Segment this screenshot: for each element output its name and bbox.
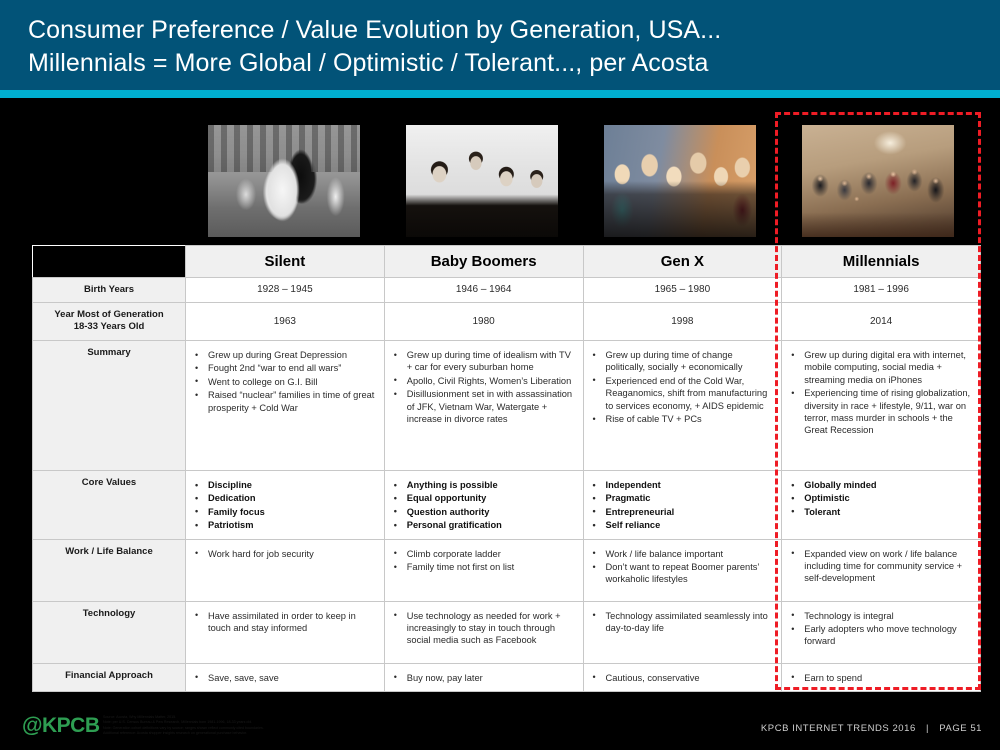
bullet-item: Rise of cable TV + PCs: [592, 413, 774, 425]
bullet-item: Work / life balance important: [592, 548, 774, 560]
bullet-item: Grew up during time of idealism with TV …: [393, 349, 575, 374]
cell-work-life-silent: Work hard for job security: [186, 539, 385, 601]
bullet-item: Have assimilated in order to keep in tou…: [194, 610, 376, 635]
cell-summary-silent: Grew up during Great DepressionFought 2n…: [186, 341, 385, 471]
row-label-line-1: Year Most of Generation: [54, 309, 163, 320]
cell-year-most-millennials: 2014: [782, 303, 981, 341]
cell-core-values-baby-boomers: Anything is possibleEqual opportunityQue…: [384, 471, 583, 540]
row-label-technology: Technology: [33, 601, 186, 663]
cell-summary-gen-x: Grew up during time of change politicall…: [583, 341, 782, 471]
bullet-item: Family focus: [194, 506, 376, 518]
bullet-item: Technology is integral: [790, 610, 972, 622]
cell-work-life-millennials: Expanded view on work / life balance inc…: [782, 539, 981, 601]
table-header-row: Silent Baby Boomers Gen X Millennials: [33, 246, 981, 278]
row-label-birth-years: Birth Years: [33, 278, 186, 303]
generation-comparison-table: Silent Baby Boomers Gen X Millennials Bi…: [32, 245, 981, 692]
photo-cell-gen-x: [581, 122, 779, 240]
cell-work-life-gen-x: Work / life balance importantDon’t want …: [583, 539, 782, 601]
cell-core-values-millennials: Globally mindedOptimisticTolerant: [782, 471, 981, 540]
beatles-photo: [406, 125, 558, 237]
bullet-item: Fought 2nd “war to end all wars”: [194, 362, 376, 374]
bullet-item: Cautious, conservative: [592, 672, 774, 684]
kpcb-logo: @KPCB: [22, 714, 99, 738]
footer-separator: |: [926, 723, 929, 734]
bullet-item: Self reliance: [592, 519, 774, 531]
source-note-line: Additional reference: Acosta shopper ins…: [103, 731, 623, 736]
row-label-core-values: Core Values: [33, 471, 186, 540]
table-row-work-life-balance: Work / Life Balance Work hard for job se…: [33, 539, 981, 601]
bullet-item: Grew up during Great Depression: [194, 349, 376, 361]
cell-technology-millennials: Technology is integralEarly adopters who…: [782, 601, 981, 663]
bullet-item: Tolerant: [790, 506, 972, 518]
footer-report-title: KPCB INTERNET TRENDS 2016: [761, 723, 916, 734]
cell-birth-years-silent: 1928 – 1945: [186, 278, 385, 303]
table-corner-cell: [33, 246, 186, 278]
bullet-item: Climb corporate ladder: [393, 548, 575, 560]
bullet-item: Independent: [592, 479, 774, 491]
column-header-baby-boomers: Baby Boomers: [384, 246, 583, 278]
bullet-item: Apollo, Civil Rights, Women’s Liberation: [393, 375, 575, 387]
bullet-item: Question authority: [393, 506, 575, 518]
cell-year-most-gen-x: 1998: [583, 303, 782, 341]
bullet-item: Expanded view on work / life balance inc…: [790, 548, 972, 585]
cell-work-life-baby-boomers: Climb corporate ladderFamily time not fi…: [384, 539, 583, 601]
bullet-item: Grew up during digital era with internet…: [790, 349, 972, 386]
table-row-birth-years: Birth Years 1928 – 1945 1946 – 1964 1965…: [33, 278, 981, 303]
cell-financial-millennials: Earn to spend: [782, 663, 981, 691]
cell-financial-baby-boomers: Buy now, pay later: [384, 663, 583, 691]
bullet-item: Technology assimilated seamlessly into d…: [592, 610, 774, 635]
row-label-line-2: 18-33 Years Old: [74, 321, 145, 332]
table-row-summary: Summary Grew up during Great DepressionF…: [33, 341, 981, 471]
bullet-item: Experienced end of the Cold War, Reagano…: [592, 375, 774, 412]
bullet-item: Pragmatic: [592, 492, 774, 504]
bullet-item: Optimistic: [790, 492, 972, 504]
bullet-item: Went to college on G.I. Bill: [194, 376, 376, 388]
cell-birth-years-millennials: 1981 – 1996: [782, 278, 981, 303]
bullet-item: Use technology as needed for work + incr…: [393, 610, 575, 647]
cell-birth-years-baby-boomers: 1946 – 1964: [384, 278, 583, 303]
bullet-item: Patriotism: [194, 519, 376, 531]
bullet-item: Personal gratification: [393, 519, 575, 531]
bullet-item: Family time not first on list: [393, 561, 575, 573]
footer-report-info: KPCB INTERNET TRENDS 2016 | PAGE 51: [761, 723, 982, 734]
bullet-item: Anything is possible: [393, 479, 575, 491]
bullet-item: Work hard for job security: [194, 548, 376, 560]
source-note: Source: Acosta, Why Millennials Matter, …: [103, 715, 623, 736]
header-accent-bar: [0, 90, 1000, 98]
table-row-core-values: Core Values DisciplineDedicationFamily f…: [33, 471, 981, 540]
bullet-item: Grew up during time of change politicall…: [592, 349, 774, 374]
cell-financial-silent: Save, save, save: [186, 663, 385, 691]
bullet-item: Save, save, save: [194, 672, 376, 684]
bullet-item: Globally minded: [790, 479, 972, 491]
bullet-item: Entrepreneurial: [592, 506, 774, 518]
generation-photo-strip: [185, 122, 980, 240]
bullet-item: Buy now, pay later: [393, 672, 575, 684]
friends-cast-photo: [604, 125, 756, 237]
photo-cell-baby-boomers: [383, 122, 581, 240]
bullet-item: Disillusionment set in with assassinatio…: [393, 388, 575, 425]
cell-year-most-baby-boomers: 1980: [384, 303, 583, 341]
cell-summary-baby-boomers: Grew up during time of idealism with TV …: [384, 341, 583, 471]
column-header-silent: Silent: [186, 246, 385, 278]
cell-technology-silent: Have assimilated in order to keep in tou…: [186, 601, 385, 663]
bullet-item: Raised “nuclear” families in time of gre…: [194, 389, 376, 414]
cell-core-values-gen-x: IndependentPragmaticEntrepreneurialSelf …: [583, 471, 782, 540]
page-title-line-1: Consumer Preference / Value Evolution by…: [28, 14, 1000, 47]
millennials-group-photo: [802, 125, 954, 237]
table-row-financial-approach: Financial Approach Save, save, save Buy …: [33, 663, 981, 691]
column-header-gen-x: Gen X: [583, 246, 782, 278]
row-label-financial-approach: Financial Approach: [33, 663, 186, 691]
cell-technology-baby-boomers: Use technology as needed for work + incr…: [384, 601, 583, 663]
bullet-item: Don’t want to repeat Boomer parents’ wor…: [592, 561, 774, 586]
photo-cell-millennials: [779, 122, 977, 240]
bullet-item: Experiencing time of rising globalizatio…: [790, 387, 972, 437]
table-row-year-most-18-33: Year Most of Generation 18-33 Years Old …: [33, 303, 981, 341]
row-label-year-most-18-33: Year Most of Generation 18-33 Years Old: [33, 303, 186, 341]
bullet-item: Early adopters who move technology forwa…: [790, 623, 972, 648]
bullet-item: Earn to spend: [790, 672, 972, 684]
bullet-item: Dedication: [194, 492, 376, 504]
column-header-millennials: Millennials: [782, 246, 981, 278]
slide-header: Consumer Preference / Value Evolution by…: [0, 0, 1000, 90]
row-label-summary: Summary: [33, 341, 186, 471]
table-row-technology: Technology Have assimilated in order to …: [33, 601, 981, 663]
cell-birth-years-gen-x: 1965 – 1980: [583, 278, 782, 303]
cell-year-most-silent: 1963: [186, 303, 385, 341]
page-title-line-2: Millennials = More Global / Optimistic /…: [28, 47, 1000, 80]
cell-core-values-silent: DisciplineDedicationFamily focusPatrioti…: [186, 471, 385, 540]
vj-day-kiss-photo: [208, 125, 360, 237]
cell-financial-gen-x: Cautious, conservative: [583, 663, 782, 691]
footer-page-number: PAGE 51: [939, 723, 982, 734]
photo-cell-silent: [185, 122, 383, 240]
row-label-work-life-balance: Work / Life Balance: [33, 539, 186, 601]
bullet-item: Discipline: [194, 479, 376, 491]
cell-summary-millennials: Grew up during digital era with internet…: [782, 341, 981, 471]
cell-technology-gen-x: Technology assimilated seamlessly into d…: [583, 601, 782, 663]
bullet-item: Equal opportunity: [393, 492, 575, 504]
